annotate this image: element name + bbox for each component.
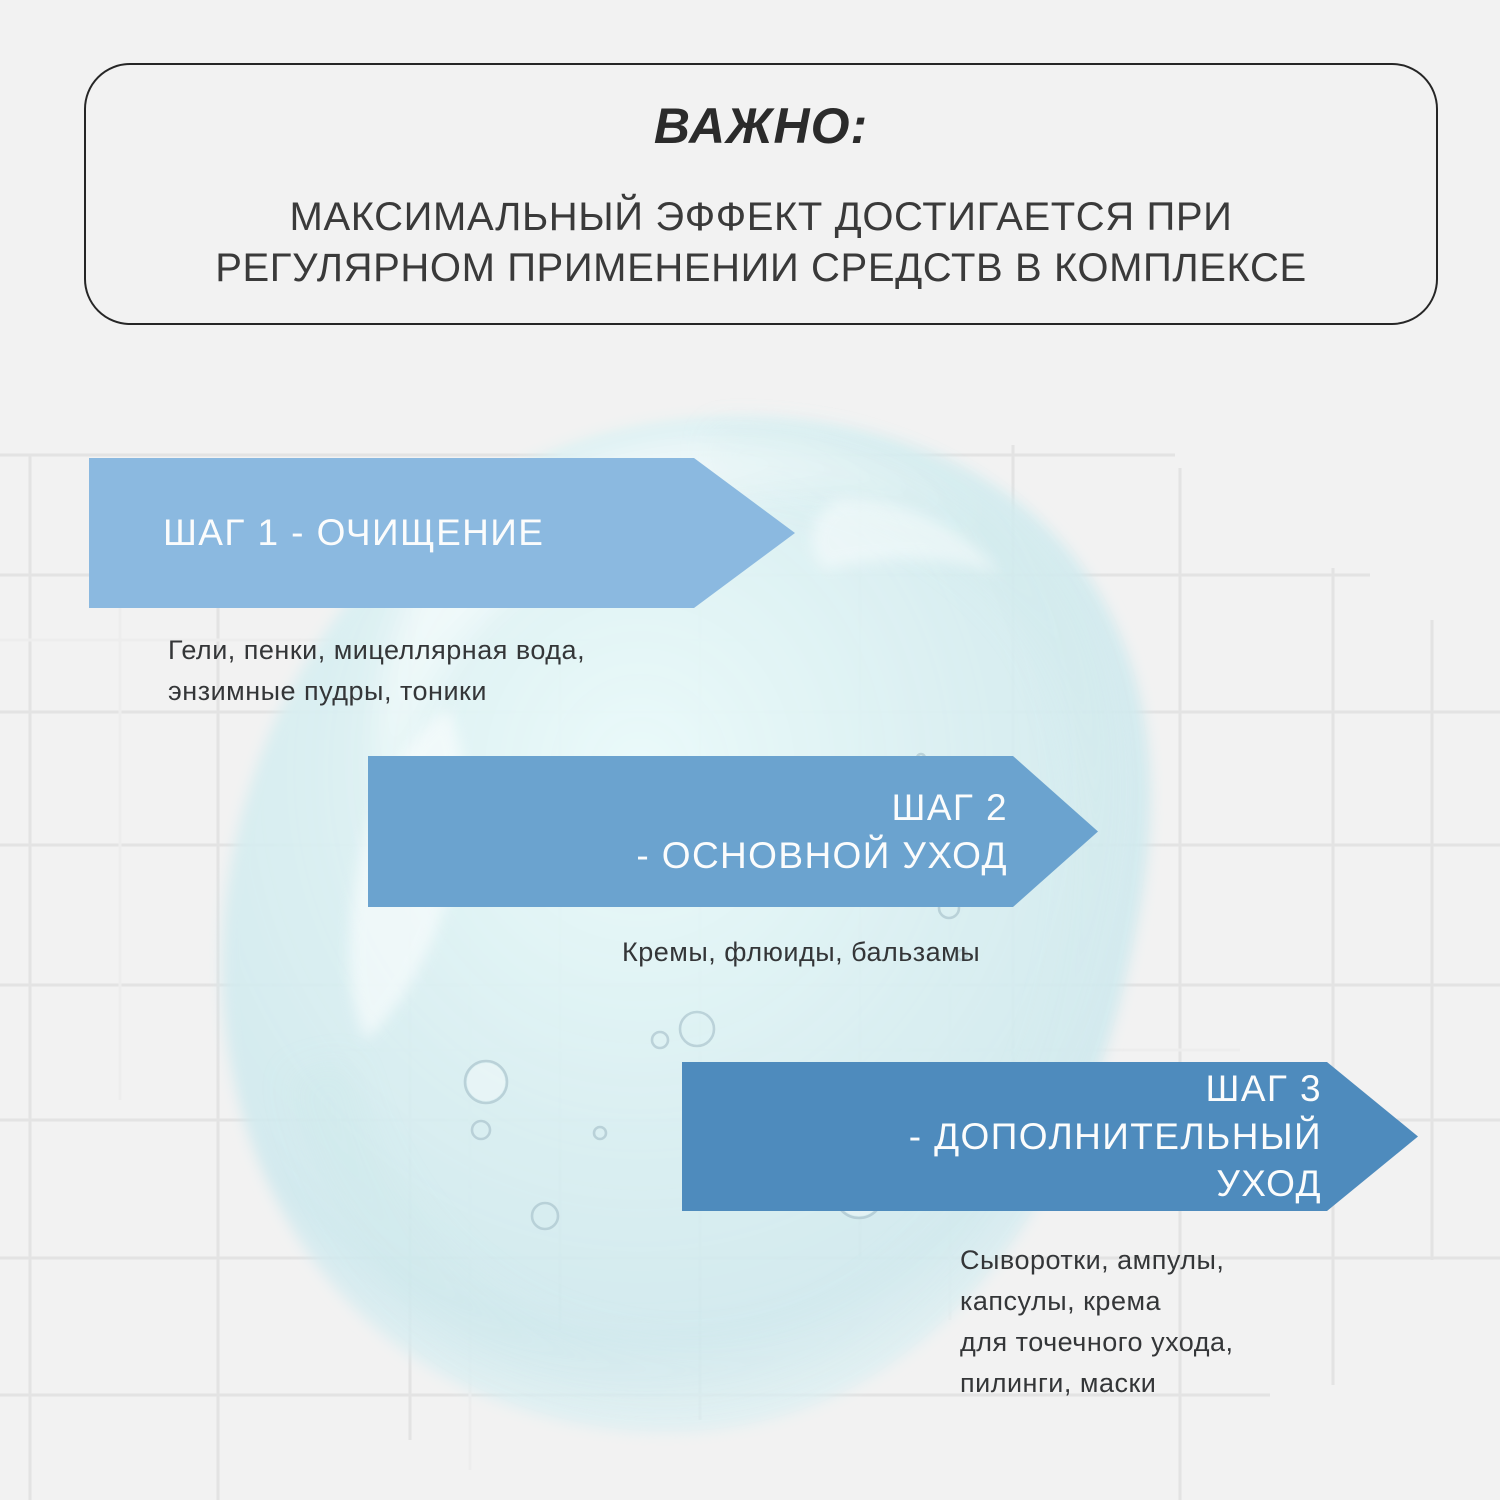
step-1-description: Гели, пенки, мицеллярная вода, энзимные … [168, 630, 585, 712]
page-subtitle: МАКСИМАЛЬНЫЙ ЭФФЕКТ ДОСТИГАЕТСЯ ПРИ РЕГУ… [215, 192, 1307, 294]
step-2-arrow: ШАГ 2 - ОСНОВНОЙ УХОД [368, 756, 1098, 907]
step-3-description: Сыворотки, ампулы, капсулы, крема для то… [960, 1240, 1233, 1404]
step-1-label: ШАГ 1 - ОЧИЩЕНИЕ [89, 509, 795, 556]
infographic-canvas: ВАЖНО: МАКСИМАЛЬНЫЙ ЭФФЕКТ ДОСТИГАЕТСЯ П… [0, 0, 1500, 1500]
step-2-label: ШАГ 2 - ОСНОВНОЙ УХОД [368, 784, 1098, 879]
step-2-description: Кремы, флюиды, бальзамы [622, 932, 980, 973]
step-3: ШАГ 3 - ДОПОЛНИТЕЛЬНЫЙ УХОД Сыворотки, а… [682, 1062, 1418, 1211]
page-subtitle-line-1: МАКСИМАЛЬНЫЙ ЭФФЕКТ ДОСТИГАЕТСЯ ПРИ [215, 192, 1307, 243]
page-title: ВАЖНО: [654, 99, 868, 154]
important-notice-card: ВАЖНО: МАКСИМАЛЬНЫЙ ЭФФЕКТ ДОСТИГАЕТСЯ П… [84, 63, 1438, 325]
step-1-arrow: ШАГ 1 - ОЧИЩЕНИЕ [89, 458, 795, 608]
step-3-label: ШАГ 3 - ДОПОЛНИТЕЛЬНЫЙ УХОД [682, 1065, 1418, 1207]
page-subtitle-line-2: РЕГУЛЯРНОМ ПРИМЕНЕНИИ СРЕДСТВ В КОМПЛЕКС… [215, 243, 1307, 294]
step-2: ШАГ 2 - ОСНОВНОЙ УХОД Кремы, флюиды, бал… [368, 756, 1098, 907]
step-1: ШАГ 1 - ОЧИЩЕНИЕ Гели, пенки, мицеллярна… [89, 458, 795, 608]
step-3-arrow: ШАГ 3 - ДОПОЛНИТЕЛЬНЫЙ УХОД [682, 1062, 1418, 1211]
